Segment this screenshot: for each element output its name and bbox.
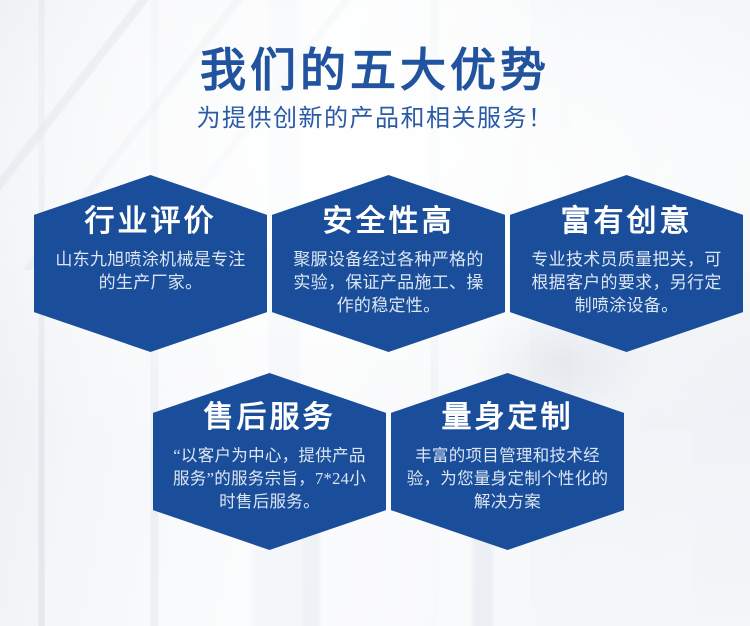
advantage-title-4: 售后服务 [204, 401, 336, 436]
page-title: 我们的五大优势 [0, 0, 750, 97]
advantage-title-5: 量身定制 [442, 401, 574, 436]
advantage-text-1: 山东九旭喷涂机械是专注的生产厂家。 [34, 248, 267, 295]
advantage-text-4: “以客户为中心，提供产品服务”的服务宗旨，7*24小时售后服务。 [153, 444, 386, 514]
advantage-title-2: 安全性高 [323, 205, 455, 240]
promo-banner: 我们的五大优势 为提供创新的产品和相关服务！ 行业评价 山东九旭喷涂机械是专注的… [0, 0, 750, 626]
banner-header: 我们的五大优势 为提供创新的产品和相关服务！ [0, 0, 750, 133]
advantage-text-5: 丰富的项目管理和技术经验，为您量身定制个性化的解决方案 [391, 444, 624, 514]
advantage-title-1: 行业评价 [85, 205, 217, 240]
advantage-text-3: 专业技术员质量把关，可根据客户的要求，另行定制喷涂设备。 [510, 248, 743, 318]
page-subtitle: 为提供创新的产品和相关服务！ [0, 105, 750, 134]
advantage-text-2: 聚脲设备经过各种严格的实验，保证产品施工、操作的稳定性。 [272, 248, 505, 318]
advantage-title-3: 富有创意 [561, 205, 693, 240]
